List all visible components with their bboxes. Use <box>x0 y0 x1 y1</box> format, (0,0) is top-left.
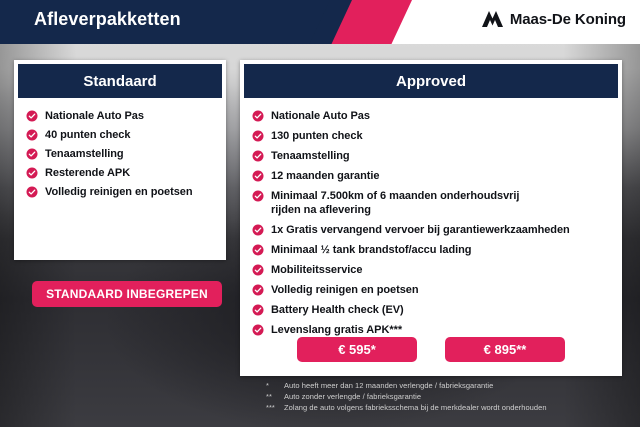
feature-label: 130 punten check <box>271 129 363 143</box>
footnote-row: ** Auto zonder verlengde / fabrieksgaran… <box>266 391 626 402</box>
footnote-marker: * <box>266 380 284 391</box>
footnote-marker: ** <box>266 391 284 402</box>
feature-label: Battery Health check (EV) <box>271 303 404 317</box>
list-item: Mobiliteitsservice <box>252 263 612 277</box>
slide-canvas: Afleverpakketten Maas-De Koning Standaar… <box>0 0 640 427</box>
footnote-text: Auto heeft meer dan 12 maanden verlengde… <box>284 380 626 391</box>
feature-label: Minimaal ½ tank brandstof/accu lading <box>271 243 471 257</box>
price-button-895[interactable]: € 895** <box>445 337 565 362</box>
list-item: 40 punten check <box>26 128 216 142</box>
feature-label: Volledig reinigen en poetsen <box>45 185 193 199</box>
list-item: Resterende APK <box>26 166 216 180</box>
list-item: Nationale Auto Pas <box>26 109 216 123</box>
list-item: Minimaal ½ tank brandstof/accu lading <box>252 243 612 257</box>
footnote-text: Auto zonder verlengde / fabrieksgarantie <box>284 391 626 402</box>
feature-label: Mobiliteitsservice <box>271 263 362 277</box>
standaard-inbegrepen-button[interactable]: STANDAARD INBEGREPEN <box>32 281 222 307</box>
check-circle-icon <box>252 150 264 162</box>
package-card-approved: Approved Nationale Auto Pas 130 punten c… <box>240 60 622 376</box>
price-button-595[interactable]: € 595* <box>297 337 417 362</box>
footnote-row: * Auto heeft meer dan 12 maanden verleng… <box>266 380 626 391</box>
page-title: Afleverpakketten <box>34 9 181 30</box>
feature-label: 12 maanden garantie <box>271 169 379 183</box>
footnote-block: * Auto heeft meer dan 12 maanden verleng… <box>266 380 626 413</box>
list-item: Minimaal 7.500km of 6 maanden onderhouds… <box>252 189 612 217</box>
check-circle-icon <box>252 324 264 336</box>
footnote-row: *** Zolang de auto volgens fabrieksschem… <box>266 402 626 413</box>
price-button-row: € 595* € 895** <box>240 337 622 362</box>
feature-label: Nationale Auto Pas <box>45 109 144 123</box>
feature-label: Levenslang gratis APK*** <box>271 323 402 337</box>
maas-de-koning-mark-icon <box>481 9 503 29</box>
list-item: Volledig reinigen en poetsen <box>26 185 216 199</box>
check-circle-icon <box>252 224 264 236</box>
list-item: Tenaamstelling <box>252 149 612 163</box>
check-circle-icon <box>252 284 264 296</box>
check-circle-icon <box>26 110 38 122</box>
check-circle-icon <box>26 167 38 179</box>
list-item: Nationale Auto Pas <box>252 109 612 123</box>
check-circle-icon <box>252 170 264 182</box>
card-title: Approved <box>396 73 466 90</box>
check-circle-icon <box>252 304 264 316</box>
list-item: 130 punten check <box>252 129 612 143</box>
feature-label: Volledig reinigen en poetsen <box>271 283 419 297</box>
feature-label-multiline: Minimaal 7.500km of 6 maanden onderhouds… <box>271 189 519 217</box>
check-circle-icon <box>26 129 38 141</box>
header-banner: Afleverpakketten Maas-De Koning <box>0 0 640 44</box>
check-circle-icon <box>26 148 38 160</box>
list-item: Tenaamstelling <box>26 147 216 161</box>
feature-list-standaard: Nationale Auto Pas 40 punten check Tenaa… <box>14 98 226 199</box>
feature-label: Nationale Auto Pas <box>271 109 370 123</box>
card-header-approved: Approved <box>244 64 618 98</box>
check-circle-icon <box>26 186 38 198</box>
check-circle-icon <box>252 110 264 122</box>
list-item: Battery Health check (EV) <box>252 303 612 317</box>
brand-lockup: Maas-De Koning <box>481 9 626 29</box>
check-circle-icon <box>252 264 264 276</box>
list-item: 12 maanden garantie <box>252 169 612 183</box>
card-title: Standaard <box>83 73 156 90</box>
footnote-text: Zolang de auto volgens fabrieksschema bi… <box>284 402 626 413</box>
check-circle-icon <box>252 244 264 256</box>
feature-label-line1: Minimaal 7.500km of 6 maanden onderhouds… <box>271 190 519 202</box>
list-item: Levenslang gratis APK*** <box>252 323 612 337</box>
list-item: Volledig reinigen en poetsen <box>252 283 612 297</box>
card-header-standaard: Standaard <box>18 64 222 98</box>
list-item: 1x Gratis vervangend vervoer bij garanti… <box>252 223 612 237</box>
check-circle-icon <box>252 130 264 142</box>
package-card-standaard: Standaard Nationale Auto Pas 40 punten c… <box>14 60 226 260</box>
feature-label: 40 punten check <box>45 128 130 142</box>
feature-label-line2: rijden na aflevering <box>271 203 519 217</box>
feature-list-approved: Nationale Auto Pas 130 punten check Tena… <box>240 98 622 337</box>
footnote-marker: *** <box>266 402 284 413</box>
feature-label: Tenaamstelling <box>271 149 350 163</box>
feature-label: 1x Gratis vervangend vervoer bij garanti… <box>271 223 570 237</box>
check-circle-icon <box>252 190 264 202</box>
feature-label: Resterende APK <box>45 166 130 180</box>
brand-name: Maas-De Koning <box>510 11 626 28</box>
feature-label: Tenaamstelling <box>45 147 124 161</box>
